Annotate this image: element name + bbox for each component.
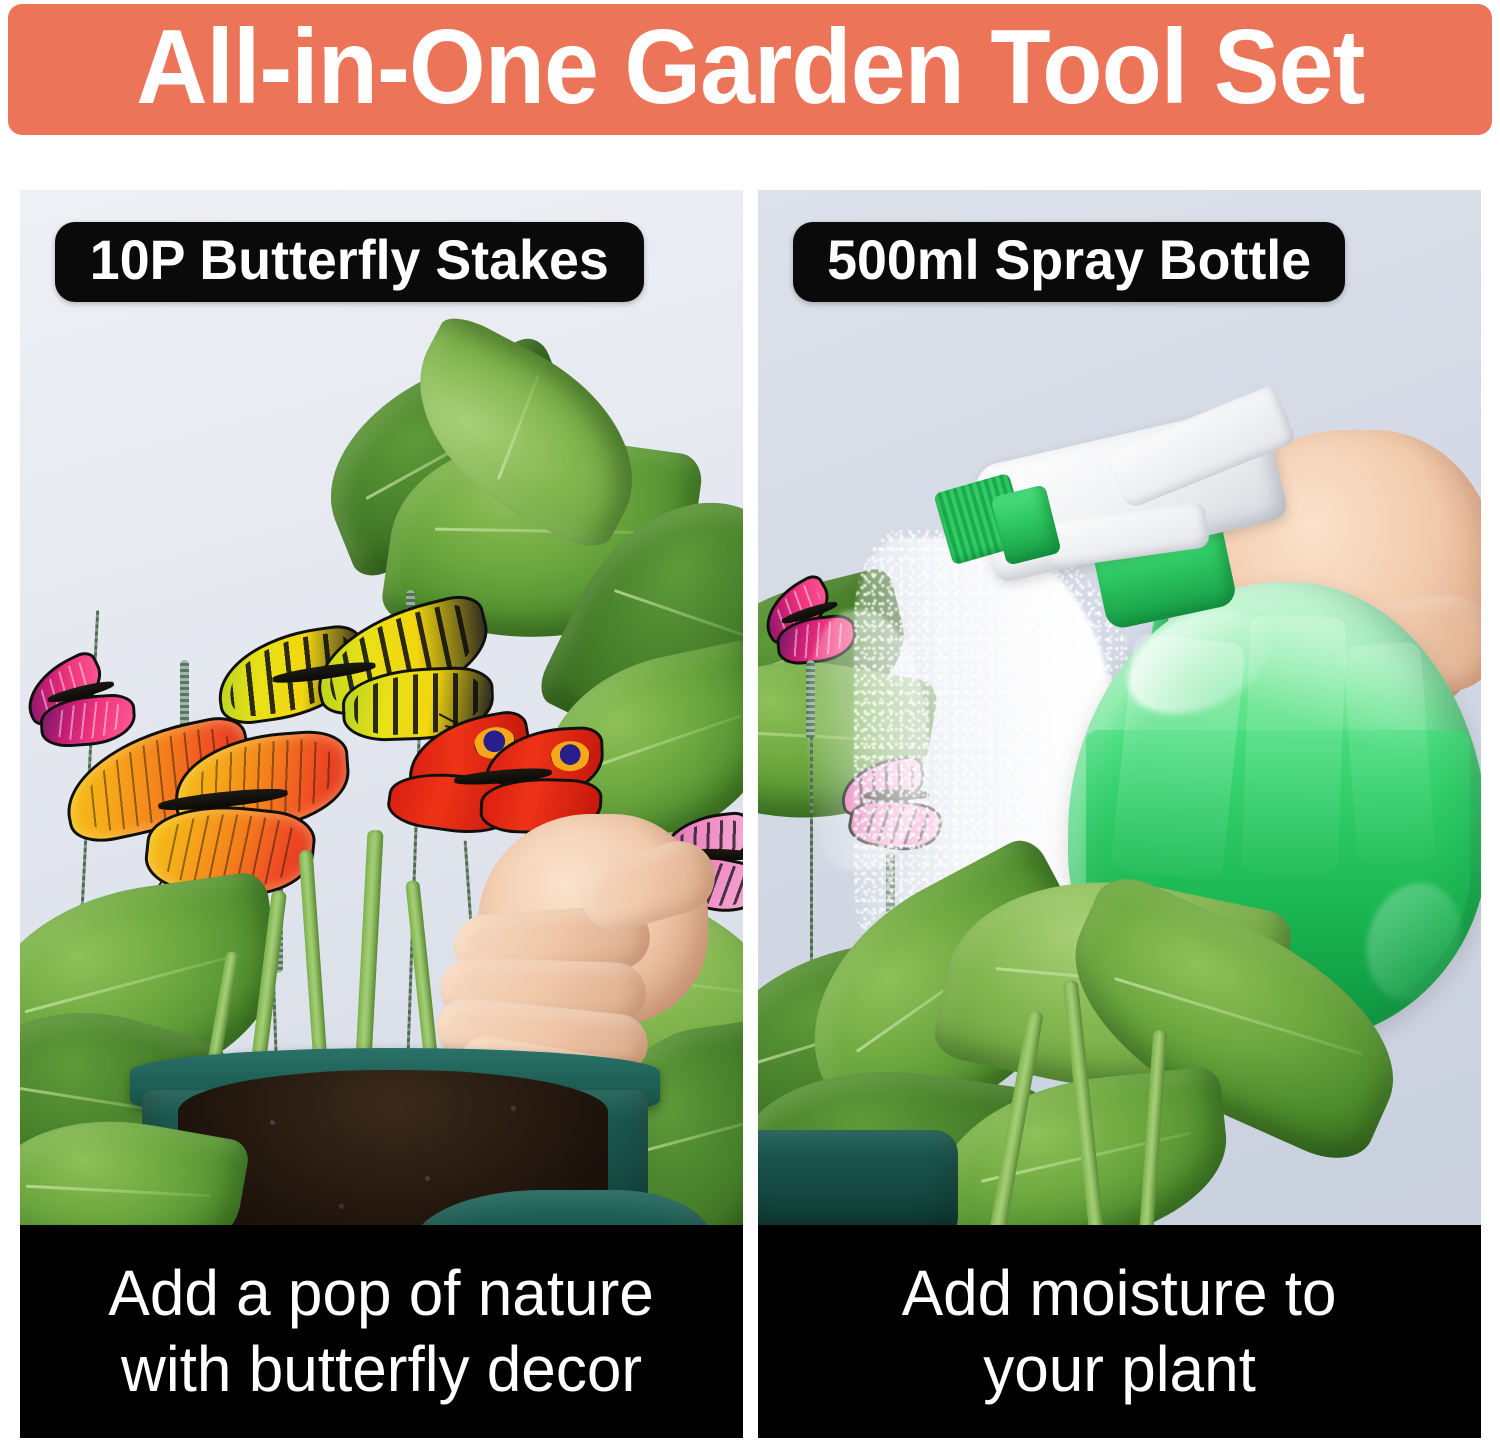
caption-line-2: your plant	[983, 1334, 1256, 1406]
caption-line-1: Add moisture to	[902, 1258, 1337, 1330]
caption-spray-bottle: Add moisture to your plant	[758, 1225, 1481, 1438]
photo-spray-bottle: 500ml Spray Bottle	[758, 190, 1481, 1225]
badge-spray-bottle: 500ml Spray Bottle	[793, 222, 1345, 302]
butterfly-scene	[20, 190, 743, 1225]
panel-grid: 10P Butterfly Stakes Add a pop of nature…	[20, 190, 1482, 1438]
panel-butterfly-stakes: 10P Butterfly Stakes Add a pop of nature…	[20, 190, 743, 1438]
panel-spray-bottle: 500ml Spray Bottle Add moisture to your …	[758, 190, 1481, 1438]
spray-scene	[758, 190, 1481, 1225]
badge-label: 10P Butterfly Stakes	[90, 232, 609, 288]
product-infographic: All-in-One Garden Tool Set	[0, 0, 1500, 1443]
badge-label: 500ml Spray Bottle	[827, 232, 1311, 288]
header-banner: All-in-One Garden Tool Set	[8, 4, 1492, 135]
badge-butterfly-stakes: 10P Butterfly Stakes	[55, 222, 644, 302]
caption-line-1: Add a pop of nature	[109, 1258, 654, 1330]
photo-butterfly-stakes: 10P Butterfly Stakes	[20, 190, 743, 1225]
bottle-highlight-band	[1342, 642, 1435, 867]
plant-pot	[758, 1130, 958, 1225]
page-title: All-in-One Garden Tool Set	[136, 14, 1364, 126]
caption-line-2: with butterfly decor	[121, 1334, 642, 1406]
caption-butterfly-stakes: Add a pop of nature with butterfly decor	[20, 1225, 743, 1438]
